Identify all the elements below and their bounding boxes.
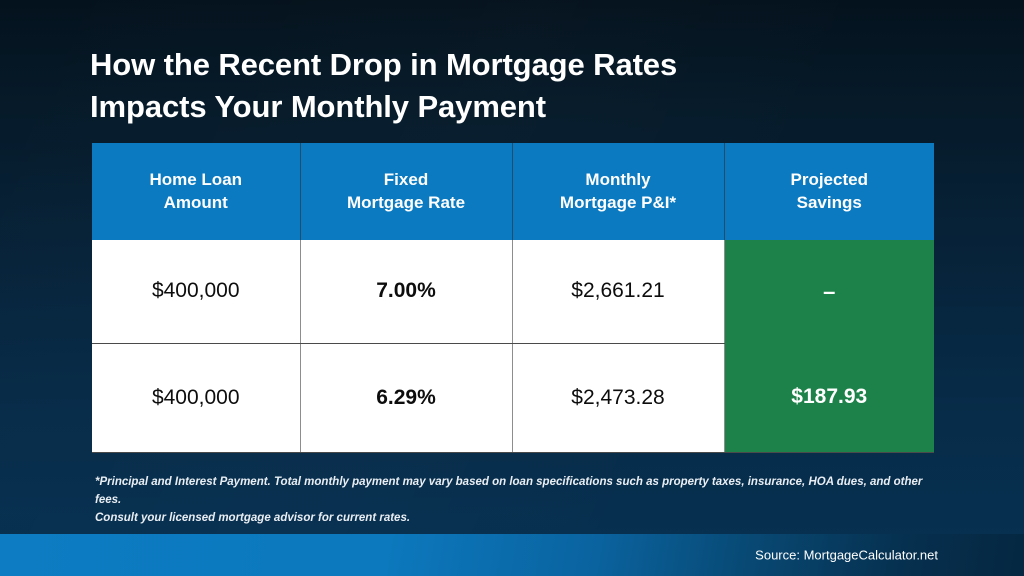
column-header-line-2: Savings [731, 192, 929, 214]
cell-mortgage-rate: 7.00% [300, 240, 512, 343]
cell-loan-amount: $400,000 [92, 240, 300, 343]
column-header-line-1: Projected [731, 169, 929, 191]
footnote-line-2: Consult your licensed mortgage advisor f… [95, 510, 925, 528]
column-header-fixed-mortgage-rate: Fixed Mortgage Rate [300, 143, 512, 240]
footnote: *Principal and Interest Payment. Total m… [95, 474, 925, 527]
column-header-line-2: Amount [98, 192, 294, 214]
cell-loan-amount: $400,000 [92, 343, 300, 452]
cell-monthly-payment: $2,473.28 [512, 343, 724, 452]
table-header-row: Home Loan Amount Fixed Mortgage Rate Mon… [92, 143, 934, 240]
footer-bar: Source: MortgageCalculator.net [0, 534, 1024, 576]
cell-monthly-payment: $2,661.21 [512, 240, 724, 343]
cell-projected-savings: $187.93 [724, 343, 934, 452]
column-header-home-loan-amount: Home Loan Amount [92, 143, 300, 240]
column-header-line-1: Fixed [307, 169, 506, 191]
column-header-line-2: Mortgage P&I* [519, 192, 718, 214]
table-row: $400,000 6.29% $2,473.28 $187.93 [92, 343, 934, 452]
footnote-line-1: *Principal and Interest Payment. Total m… [95, 474, 925, 510]
column-header-projected-savings: Projected Savings [724, 143, 934, 240]
column-header-line-1: Monthly [519, 169, 718, 191]
source-attribution: Source: MortgageCalculator.net [755, 548, 938, 563]
mortgage-comparison-table: Home Loan Amount Fixed Mortgage Rate Mon… [92, 143, 934, 453]
column-header-monthly-mortgage-pi: Monthly Mortgage P&I* [512, 143, 724, 240]
page-title: How the Recent Drop in Mortgage Rates Im… [90, 44, 850, 127]
column-header-line-1: Home Loan [98, 169, 294, 191]
slide-canvas: How the Recent Drop in Mortgage Rates Im… [0, 0, 1024, 576]
column-header-line-2: Mortgage Rate [307, 192, 506, 214]
page-title-line-1: How the Recent Drop in Mortgage Rates [90, 44, 850, 86]
cell-projected-savings: – [724, 240, 934, 343]
page-title-line-2: Impacts Your Monthly Payment [90, 86, 850, 128]
cell-mortgage-rate: 6.29% [300, 343, 512, 452]
table-row: $400,000 7.00% $2,661.21 – [92, 240, 934, 343]
